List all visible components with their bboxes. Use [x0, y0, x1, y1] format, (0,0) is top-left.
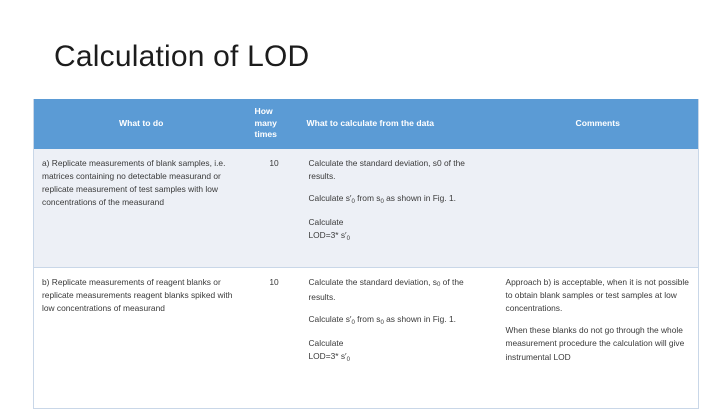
- cell-comments: Approach b) is acceptable, when it is no…: [498, 267, 699, 408]
- slide-canvas: Calculation of LOD What to do How many t…: [0, 0, 720, 404]
- table-row: b) Replicate measurements of reagent bla…: [34, 267, 699, 408]
- cell-how-many-times: 10: [249, 149, 301, 268]
- calculate-paragraph: LOD=3* s′0: [309, 229, 489, 244]
- column-header-how-many-times: How many times: [249, 99, 301, 149]
- cell-what-to-calculate: Calculate the standard deviation, s0 of …: [301, 149, 498, 268]
- cell-how-many-times: 10: [249, 267, 301, 408]
- comment-paragraph: When these blanks do not go through the …: [506, 324, 690, 364]
- page-title: Calculation of LOD: [54, 40, 309, 74]
- table-body: a) Replicate measurements of blank sampl…: [34, 149, 699, 409]
- calculate-paragraph: Calculate: [309, 337, 489, 350]
- column-header-what-to-do: What to do: [34, 99, 249, 149]
- lod-calculation-table: What to do How many times What to calcul…: [33, 99, 699, 409]
- calculate-paragraph: Calculate: [309, 216, 489, 229]
- column-header-what-to-calculate: What to calculate from the data: [301, 99, 498, 149]
- comment-paragraph: Approach b) is acceptable, when it is no…: [506, 276, 690, 316]
- cell-what-to-do: a) Replicate measurements of blank sampl…: [34, 149, 249, 268]
- calculate-paragraph: Calculate s′0 from s0 as shown in Fig. 1…: [309, 313, 489, 328]
- cell-what-to-calculate: Calculate the standard deviation, s0 of …: [301, 267, 498, 408]
- calculate-paragraph: Calculate the standard deviation, s0 of …: [309, 157, 489, 183]
- cell-what-to-do: b) Replicate measurements of reagent bla…: [34, 267, 249, 408]
- column-header-comments: Comments: [498, 99, 699, 149]
- calculate-paragraph: Calculate s′0 from s0 as shown in Fig. 1…: [309, 192, 489, 207]
- calculate-paragraph: LOD=3* s′0: [309, 350, 489, 365]
- table-header: What to do How many times What to calcul…: [34, 99, 699, 149]
- calculate-paragraph: Calculate the standard deviation, s0 of …: [309, 276, 489, 304]
- table-row: a) Replicate measurements of blank sampl…: [34, 149, 699, 268]
- cell-comments: [498, 149, 699, 268]
- table-header-row: What to do How many times What to calcul…: [34, 99, 699, 149]
